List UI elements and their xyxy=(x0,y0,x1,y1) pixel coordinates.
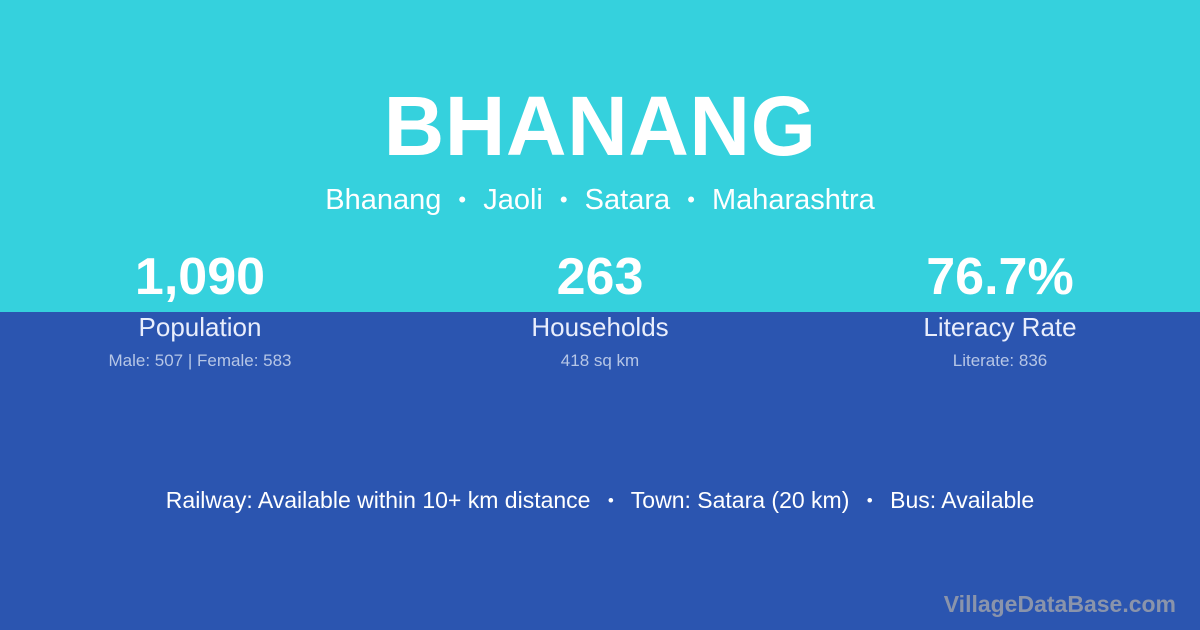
stat-literacy: 76.7% Literacy Rate Literate: 836 xyxy=(800,246,1200,371)
breadcrumb-separator-icon: • xyxy=(551,183,577,217)
site-brand-watermark: VillageDataBase.com xyxy=(944,590,1176,618)
stat-literacy-label: Literacy Rate xyxy=(800,312,1200,342)
amenity-separator-icon: • xyxy=(597,487,625,515)
stat-population-value: 1,090 xyxy=(0,246,400,308)
breadcrumb-separator-icon: • xyxy=(678,183,704,217)
stats-row: 1,090 Population Male: 507 | Female: 583… xyxy=(0,246,1200,371)
amenity-bus: Bus: Available xyxy=(890,487,1034,513)
amenity-separator-icon: • xyxy=(856,487,884,515)
breadcrumb: Bhanang • Jaoli • Satara • Maharashtra xyxy=(0,183,1200,219)
card-content: BHANANG Bhanang • Jaoli • Satara • Mahar… xyxy=(0,0,1200,630)
breadcrumb-item-district: Satara xyxy=(585,184,670,216)
amenity-railway: Railway: Available within 10+ km distanc… xyxy=(166,487,591,513)
stat-households-label: Households xyxy=(400,312,800,342)
stat-literacy-value: 76.7% xyxy=(800,246,1200,308)
stat-population-breakdown: Male: 507 | Female: 583 xyxy=(0,351,400,371)
amenity-town: Town: Satara (20 km) xyxy=(631,487,850,513)
village-info-card: BHANANG Bhanang • Jaoli • Satara • Mahar… xyxy=(0,0,1200,630)
page-title: BHANANG xyxy=(0,81,1200,171)
stat-population-label: Population xyxy=(0,312,400,342)
breadcrumb-separator-icon: • xyxy=(449,183,475,217)
stat-households: 263 Households 418 sq km xyxy=(400,246,800,371)
stat-households-area: 418 sq km xyxy=(400,351,800,371)
amenities-line: Railway: Available within 10+ km distanc… xyxy=(0,486,1200,517)
breadcrumb-item-state: Maharashtra xyxy=(712,184,875,216)
stat-population: 1,090 Population Male: 507 | Female: 583 xyxy=(0,246,400,371)
breadcrumb-item-block: Jaoli xyxy=(483,184,543,216)
stat-households-value: 263 xyxy=(400,246,800,308)
stat-literacy-count: Literate: 836 xyxy=(800,351,1200,371)
breadcrumb-item-village: Bhanang xyxy=(325,184,441,216)
